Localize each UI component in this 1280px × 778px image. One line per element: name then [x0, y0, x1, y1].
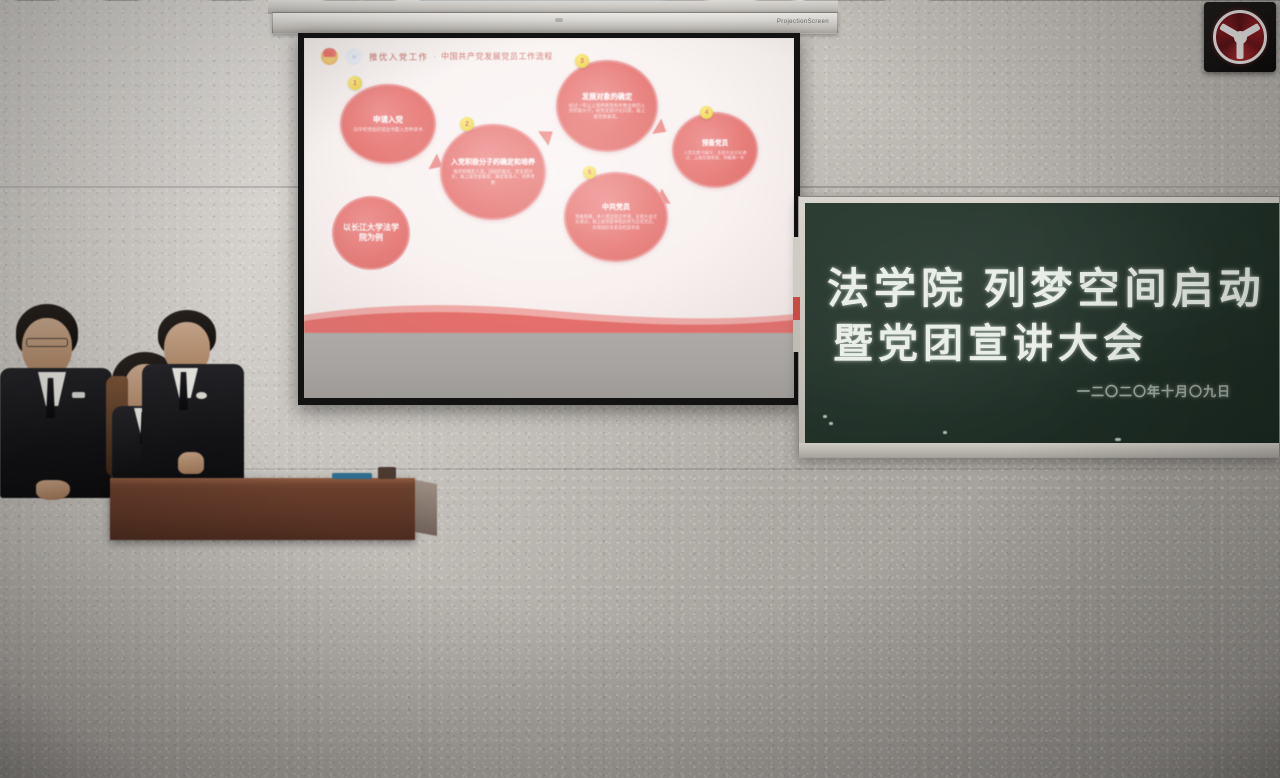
- step-4-title: 预备党员: [702, 140, 728, 148]
- step-3-body: 经过一年以上培养教育和考察合格的入党积极分子，经党支部讨论同意，报上级党委备案。: [567, 103, 647, 119]
- step-5-title: 中共党员: [602, 204, 630, 212]
- lapel-badge: [196, 392, 207, 399]
- slide-wave-decoration: [304, 299, 794, 333]
- step-4-number: 4: [700, 106, 713, 119]
- lecture-hall-photo: ProjectionScreen » 推优入党工作 · 中国共产党发展党员工作流…: [0, 0, 1280, 778]
- fan-hub-icon: [1234, 31, 1247, 44]
- flow-step-4: 预备党员 入党志愿书填写、支部大会讨论通过、上级党委审批、预备期一年: [672, 112, 758, 188]
- chalk-mark: [943, 431, 947, 434]
- ceiling-fan-vent-device: [1204, 2, 1276, 72]
- screen-surface: » 推优入党工作 · 中国共产党发展党员工作流程 申请入党 向学校党组织提出书面…: [304, 38, 794, 398]
- chalk-mark: [829, 422, 833, 425]
- example-label-bubble: 以长江大学法学院为例: [332, 196, 410, 270]
- chalk-mark: [1115, 438, 1121, 441]
- screen-unlit-area: [304, 333, 794, 398]
- podium-object-box: [378, 467, 396, 479]
- flow-step-1: 申请入党 向学校党组织提出书面入党申请书: [340, 84, 436, 164]
- step-3-number: 3: [575, 54, 589, 68]
- slide-subtitle: 中国共产党发展党员工作流程: [441, 51, 553, 62]
- device-ring-icon: [1213, 10, 1267, 64]
- projector-screen-housing: ProjectionScreen: [272, 12, 838, 34]
- podium: [110, 478, 415, 540]
- step-2-number: 2: [460, 117, 474, 131]
- arrow-2-to-3-icon: [538, 124, 558, 146]
- blackboard-surface: 法学院 列梦空间启动 暨党团宣讲大会 一二〇二〇年十月〇九日: [805, 203, 1279, 443]
- projected-slide: » 推优入党工作 · 中国共产党发展党员工作流程 申请入党 向学校党组织提出书面…: [304, 38, 794, 333]
- double-chevron-icon: »: [345, 48, 362, 65]
- wave-shape-icon: [304, 299, 794, 333]
- presenter-hand: [178, 452, 204, 474]
- step-5-body: 预备期满，本人提出转正申请，支部大会讨论通过，报上级党委审批后转为正式党员，办理…: [575, 214, 657, 230]
- blackboard-ledge: [799, 443, 1279, 457]
- slide-header: » 推优入党工作 · 中国共产党发展党员工作流程: [321, 48, 553, 65]
- housing-bracket: [555, 18, 563, 22]
- flow-step-2: 入党积极分子的确定和培养 推荐和确定人选，团组织推优，党支部讨论，报上级党委备案…: [440, 124, 546, 220]
- step-1-body: 向学校党组织提出书面入党申请书: [354, 127, 423, 133]
- step-4-body: 入党志愿书填写、支部大会讨论通过、上级党委审批、预备期一年: [683, 150, 747, 160]
- step-3-title: 发展对象的确定: [582, 93, 632, 101]
- presenter-hand: [36, 480, 70, 500]
- projection-screen: » 推优入党工作 · 中国共产党发展党员工作流程 申请入党 向学校党组织提出书面…: [298, 33, 800, 405]
- blackboard-line-1: 法学院 列梦空间启动: [827, 255, 1266, 316]
- podium-object-booklet: [332, 473, 372, 479]
- chalk-mark: [823, 415, 827, 418]
- slide-title-separator: ·: [433, 52, 436, 61]
- step-5-number: 5: [583, 166, 596, 179]
- step-2-body: 推荐和确定人选，团组织推优，党支部讨论，报上级党委备案，确定联系人、培养考察: [451, 169, 535, 185]
- party-badge-icon: [321, 48, 338, 65]
- blackboard-side-strip: [793, 237, 800, 352]
- blackboard: 法学院 列梦空间启动 暨党团宣讲大会 一二〇二〇年十月〇九日: [798, 196, 1280, 458]
- glasses-icon: [26, 338, 68, 347]
- podium-side-panel: [415, 480, 437, 536]
- blackboard-date: 一二〇二〇年十月〇九日: [1077, 381, 1231, 400]
- lapel-badge: [72, 392, 85, 398]
- podium-top-surface: [110, 478, 415, 485]
- housing-brand-label: ProjectionScreen: [777, 19, 829, 25]
- arrow-3-to-4-icon: [652, 118, 671, 139]
- slide-title: 推优入党工作: [369, 51, 428, 63]
- blackboard-line-2: 暨党团宣讲大会: [833, 311, 1148, 369]
- step-1-title: 申请入党: [373, 116, 403, 125]
- step-1-number: 1: [348, 76, 362, 90]
- flow-step-3: 发展对象的确定 经过一年以上培养教育和考察合格的入党积极分子，经党支部讨论同意，…: [556, 60, 658, 152]
- step-2-title: 入党积极分子的确定和培养: [451, 159, 535, 167]
- flow-step-5: 中共党员 预备期满，本人提出转正申请，支部大会讨论通过，报上级党委审批后转为正式…: [564, 172, 668, 262]
